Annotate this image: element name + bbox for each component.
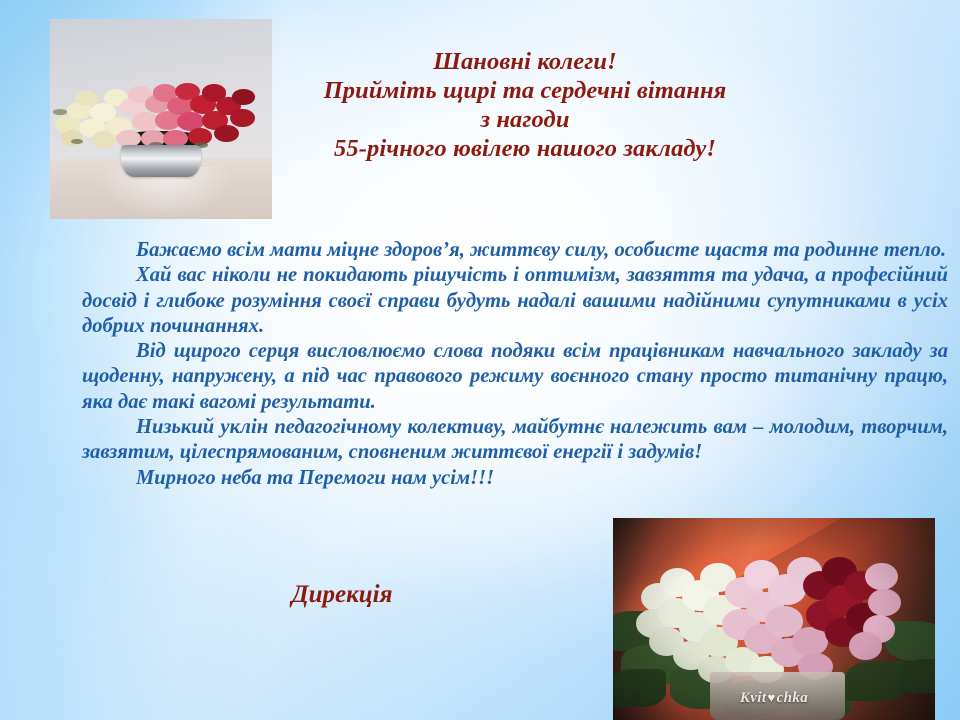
- paragraph-peace: Мирного неба та Перемоги нам усім!!!: [82, 466, 948, 491]
- paragraph-bow: Низький уклін педагогічному колективу, м…: [82, 415, 948, 466]
- greeting-body: Бажаємо всім мати міцне здоров’я, життєв…: [82, 238, 948, 491]
- page-title: Шановні колеги! Прийміть щирі та сердечн…: [290, 47, 760, 163]
- photo-silver-bowl: [121, 145, 201, 177]
- paragraph-wishes: Бажаємо всім мати міцне здоров’я, життєв…: [82, 238, 948, 263]
- greeting-slide: Шановні колеги! Прийміть щирі та сердечн…: [0, 0, 960, 720]
- paragraph-gratitude: Від щирого серця висловлюємо слова подяк…: [82, 339, 948, 415]
- roses-arrangement-photo: [50, 19, 272, 219]
- title-line-2: Прийміть щирі та сердечні вітання: [290, 76, 760, 105]
- paragraph-optimism: Хай вас ніколи не покидають рішучість і …: [82, 263, 948, 339]
- signature-text: Дирекція: [82, 580, 602, 610]
- photo-flower-mass: [59, 75, 263, 153]
- title-line-4: 55-річного ювілею нашого закладу!: [290, 134, 760, 163]
- photo-watermark: Kvit♥chka: [613, 690, 935, 707]
- title-line-1: Шановні колеги!: [290, 47, 760, 76]
- heart-icon: ♥: [766, 690, 776, 705]
- heart-bouquet-photo: Kvit♥chka: [613, 518, 935, 720]
- watermark-prefix: Kvit: [740, 690, 767, 706]
- watermark-suffix: chka: [777, 690, 809, 706]
- title-line-3: з нагоди: [290, 105, 760, 134]
